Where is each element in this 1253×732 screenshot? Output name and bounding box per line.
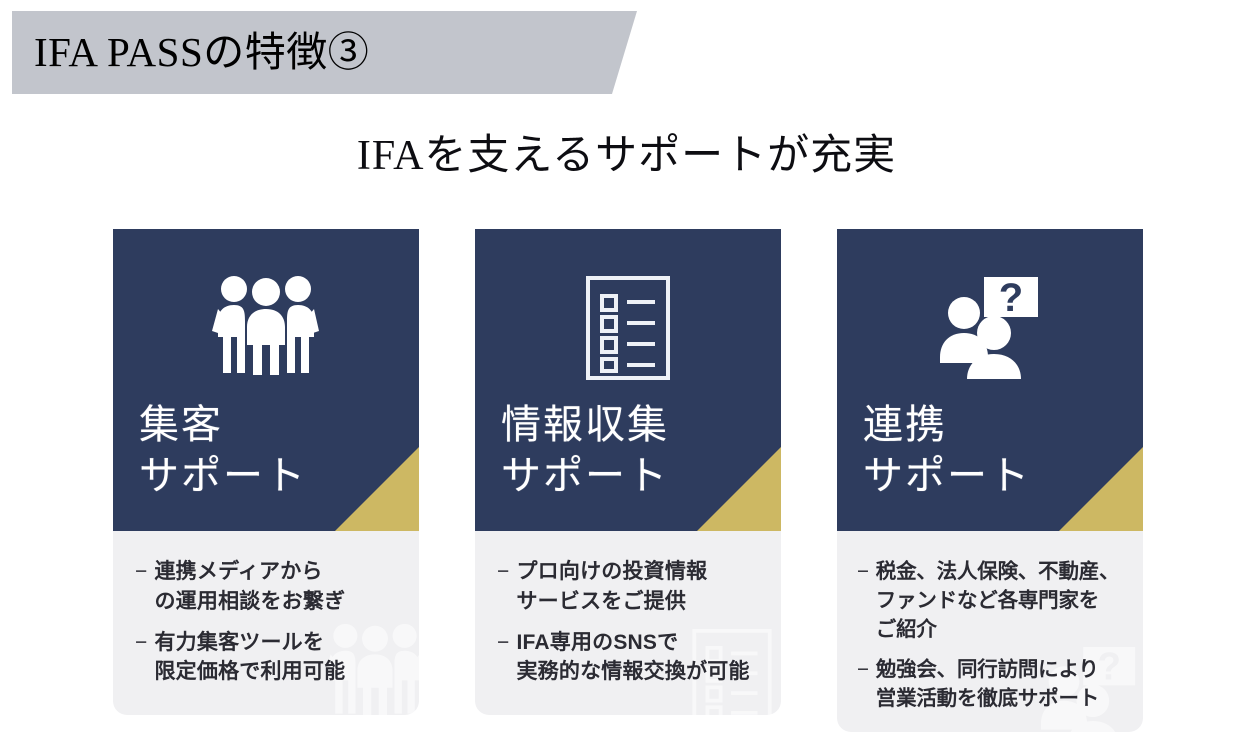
card-title: 情報収集 サポート bbox=[501, 399, 669, 501]
card-body: ? − 税金、法人保険、不動産、 ファンドなど各専門家を ご紹介 − 勉強会、同… bbox=[837, 531, 1143, 732]
card-bullet-list: − 税金、法人保険、不動産、 ファンドなど各専門家を ご紹介 − 勉強会、同行訪… bbox=[857, 557, 1137, 714]
card-joho-shushu-support: 情報収集 サポート − bbox=[475, 229, 781, 732]
bullet-dash: − bbox=[857, 655, 869, 713]
card-bullet-list: − 連携メディアから の運用相談をお繋ぎ − 有力集客ツールを 限定価格で利用可… bbox=[135, 557, 405, 687]
bullet-text: 勉強会、同行訪問により 営業活動を徹底サポート bbox=[876, 655, 1137, 713]
bullet-dash: − bbox=[857, 557, 869, 644]
card-shukyaku-support: 集客 サポート bbox=[113, 229, 419, 732]
bullet-text: 連携メディアから の運用相談をお繋ぎ bbox=[154, 557, 405, 617]
bullet-text: 有力集客ツールを 限定価格で利用可能 bbox=[154, 628, 405, 688]
card-bullet-list: − プロ向けの投資情報 サービスをご提供 − IFA専用のSNSで 実務的な情報… bbox=[497, 557, 767, 687]
gold-corner-triangle bbox=[697, 447, 781, 531]
support-cards-row: 集客 サポート bbox=[113, 229, 1143, 732]
people-question-bubble-icon: ? bbox=[938, 273, 1042, 383]
card-title: 集客 サポート bbox=[139, 399, 307, 501]
bullet-item: − 連携メディアから の運用相談をお繋ぎ bbox=[135, 557, 405, 617]
page-title: IFA PASSの特徴③ bbox=[34, 32, 369, 73]
bullet-item: − 勉強会、同行訪問により 営業活動を徹底サポート bbox=[857, 655, 1137, 713]
bullet-dash: − bbox=[497, 628, 509, 688]
bullet-text: プロ向けの投資情報 サービスをご提供 bbox=[516, 557, 767, 617]
card-header: ? 連携 サポート bbox=[837, 229, 1143, 531]
card-body: − 連携メディアから の運用相談をお繋ぎ − 有力集客ツールを 限定価格で利用可… bbox=[113, 531, 419, 715]
bullet-item: − 有力集客ツールを 限定価格で利用可能 bbox=[135, 628, 405, 688]
three-people-icon bbox=[212, 273, 320, 383]
gold-corner-triangle bbox=[335, 447, 419, 531]
svg-text:?: ? bbox=[999, 276, 1023, 320]
bullet-dash: − bbox=[135, 628, 147, 688]
bullet-item: − プロ向けの投資情報 サービスをご提供 bbox=[497, 557, 767, 617]
bullet-text: IFA専用のSNSで 実務的な情報交換が可能 bbox=[516, 628, 767, 688]
card-title: 連携 サポート bbox=[863, 399, 1031, 501]
bullet-dash: − bbox=[135, 557, 147, 617]
card-header: 情報収集 サポート bbox=[475, 229, 781, 531]
bullet-dash: − bbox=[497, 557, 509, 617]
card-body: − プロ向けの投資情報 サービスをご提供 − IFA専用のSNSで 実務的な情報… bbox=[475, 531, 781, 715]
bullet-text: 税金、法人保険、不動産、 ファンドなど各専門家を ご紹介 bbox=[876, 557, 1137, 644]
bullet-item: − IFA専用のSNSで 実務的な情報交換が可能 bbox=[497, 628, 767, 688]
main-heading: IFAを支えるサポートが充実 bbox=[0, 133, 1253, 179]
card-renkei-support: ? 連携 サポート ? bbox=[837, 229, 1143, 732]
card-header: 集客 サポート bbox=[113, 229, 419, 531]
bullet-item: − 税金、法人保険、不動産、 ファンドなど各専門家を ご紹介 bbox=[857, 557, 1137, 644]
slide-title-banner: IFA PASSの特徴③ bbox=[12, 11, 637, 94]
gold-corner-triangle bbox=[1059, 447, 1143, 531]
checklist-document-icon bbox=[585, 273, 671, 383]
